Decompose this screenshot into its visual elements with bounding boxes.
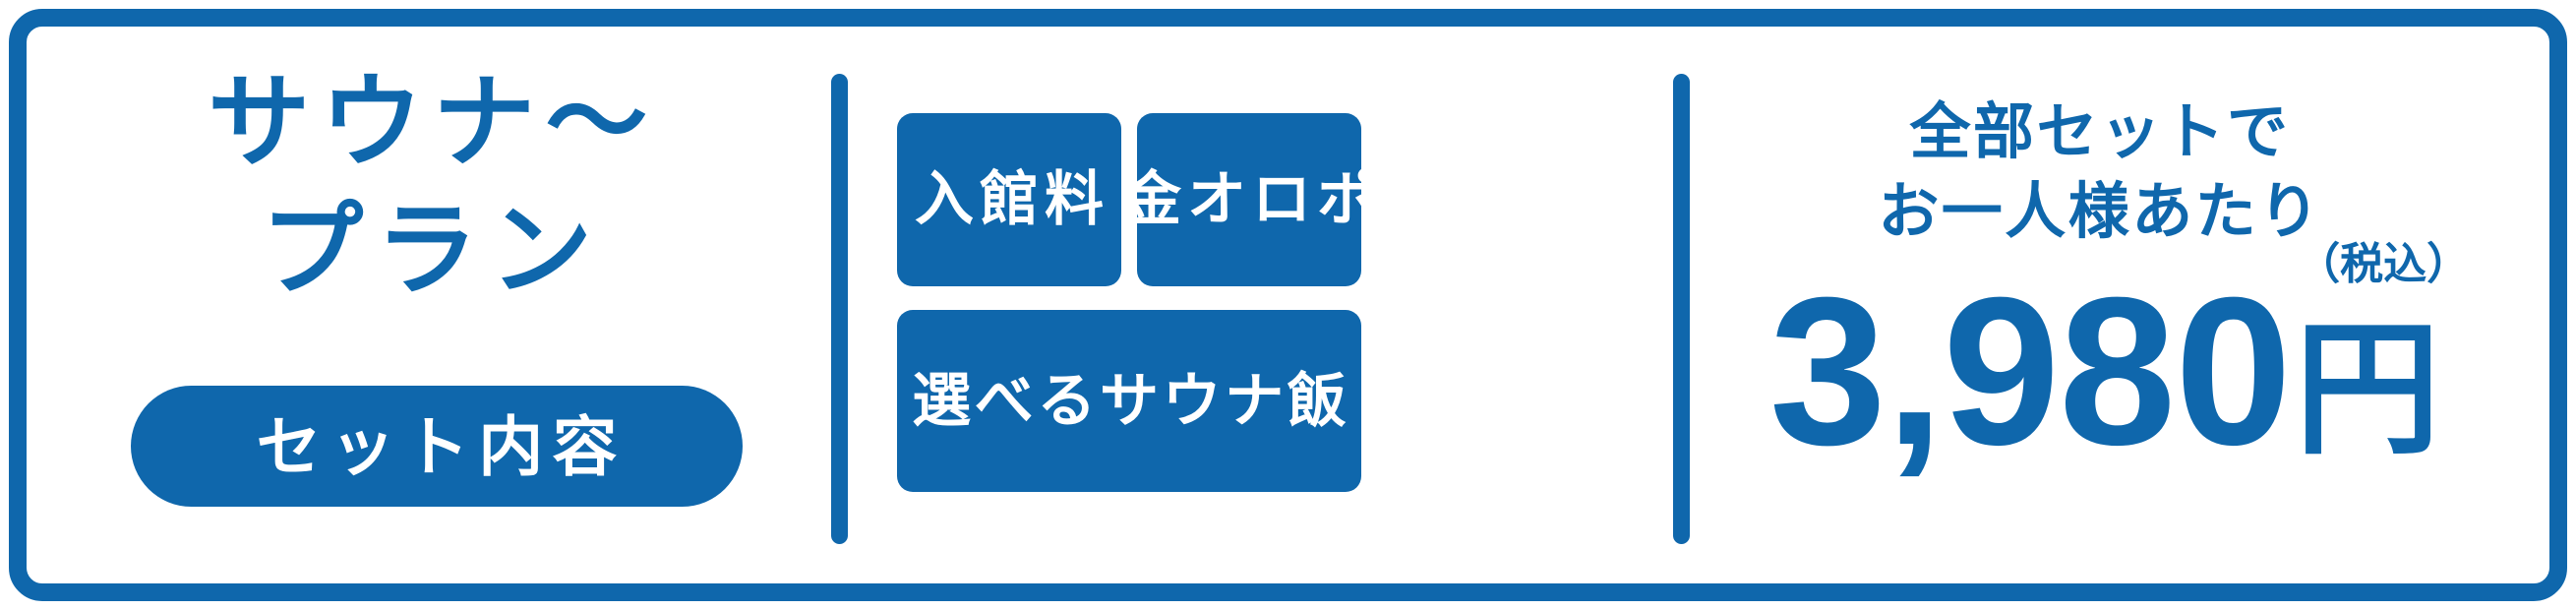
price-row: 3,980 （税込） 円 bbox=[1711, 275, 2498, 469]
badge-row-top: 入館料 金オロポ bbox=[897, 113, 1361, 286]
tax-included-note: （税込） bbox=[2297, 243, 2470, 286]
price-amount: 3,980 bbox=[1769, 275, 2291, 469]
badge-label: 入館料 bbox=[909, 170, 1109, 229]
set-contents-pill: セット内容 bbox=[131, 386, 743, 507]
badge-admission-fee: 入館料 bbox=[897, 113, 1121, 286]
banner-content: サウナ〜 プラン セット内容 入館料 金オロポ 選べるサウナ飯 bbox=[0, 0, 2576, 610]
badge-label: 金オロポ bbox=[1116, 170, 1382, 229]
price-lead-text: 全部セットで お一人様あたり bbox=[1711, 93, 2488, 252]
set-contents-label: セット内容 bbox=[247, 414, 626, 479]
badge-kin-oropo: 金オロポ bbox=[1137, 113, 1361, 286]
set-contents-badges: 入館料 金オロポ 選べるサウナ飯 bbox=[897, 113, 1361, 492]
divider-right bbox=[1673, 74, 1690, 544]
sauna-plan-banner: サウナ〜 プラン セット内容 入館料 金オロポ 選べるサウナ飯 bbox=[0, 0, 2576, 610]
price-right-column: 全部セットで お一人様あたり 3,980 （税込） 円 bbox=[1711, 93, 2518, 536]
badge-label: 選べるサウナ飯 bbox=[909, 372, 1350, 431]
plan-left-column: サウナ〜 プラン セット内容 bbox=[59, 39, 807, 571]
price-currency-unit: 円 bbox=[2295, 318, 2440, 463]
price-unit-group: （税込） 円 bbox=[2295, 318, 2440, 469]
price-lead-line-1: 全部セットで bbox=[1910, 98, 2291, 166]
plan-title: サウナ〜 プラン bbox=[59, 59, 807, 315]
plan-title-line-2: プラン bbox=[59, 187, 807, 315]
badge-sauna-meal: 選べるサウナ飯 bbox=[897, 310, 1361, 492]
divider-left bbox=[831, 74, 848, 544]
plan-title-line-1: サウナ〜 bbox=[208, 66, 658, 180]
